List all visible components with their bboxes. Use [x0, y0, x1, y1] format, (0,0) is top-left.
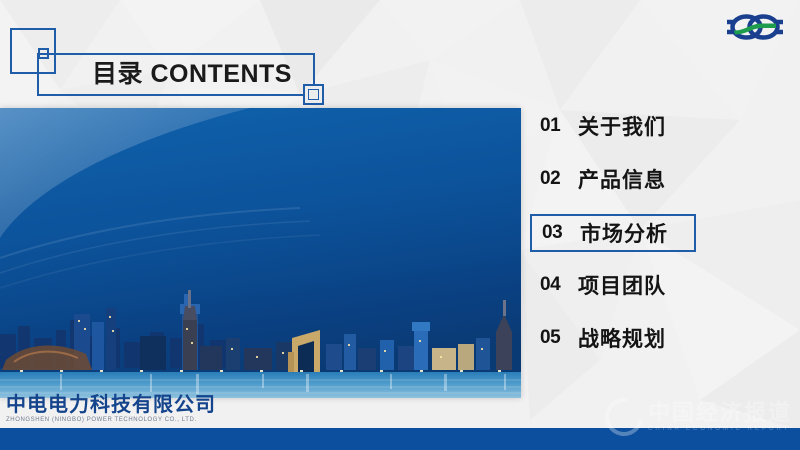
- menu-item-02[interactable]: 02 产品信息: [530, 161, 674, 197]
- company-name-en: ZHONGSHEN (NINGBO) POWER TECHNOLOGY CO.,…: [6, 416, 216, 425]
- title-frame-knot-left: [38, 48, 49, 59]
- menu-item-01-label: 关于我们: [578, 111, 666, 141]
- menu-item-05[interactable]: 05 战略规划: [530, 320, 674, 356]
- company-logo-icon: [724, 8, 786, 46]
- bottom-blue-bar: [0, 428, 800, 450]
- menu-item-04[interactable]: 04 项目团队: [530, 267, 674, 303]
- slide-canvas: 目录 CONTENTS: [0, 0, 800, 450]
- menu-item-04-label: 项目团队: [578, 270, 666, 300]
- page-title: 目录 CONTENTS: [86, 54, 298, 90]
- menu-item-02-number: 02: [540, 168, 572, 190]
- menu-item-01-number: 01: [540, 115, 572, 137]
- title-frame-knot-right-inner: [308, 89, 319, 100]
- menu-item-01[interactable]: 01 关于我们: [530, 108, 674, 144]
- menu-item-03-label: 市场分析: [580, 218, 668, 248]
- contents-menu: 01 关于我们 02 产品信息 03 市场分析 04 项目团队 05 战略规划: [530, 108, 780, 358]
- city-skyline-image: [0, 108, 521, 398]
- menu-item-05-number: 05: [540, 327, 572, 349]
- menu-item-05-label: 战略规划: [578, 323, 666, 353]
- menu-item-02-label: 产品信息: [578, 164, 666, 194]
- menu-item-04-number: 04: [540, 274, 572, 296]
- company-name-cn: 中电电力科技有限公司: [6, 394, 216, 416]
- menu-item-03-active[interactable]: 03 市场分析: [530, 214, 696, 252]
- company-branding: 中电电力科技有限公司 ZHONGSHEN (NINGBO) POWER TECH…: [6, 394, 216, 428]
- menu-item-03-number: 03: [542, 222, 574, 244]
